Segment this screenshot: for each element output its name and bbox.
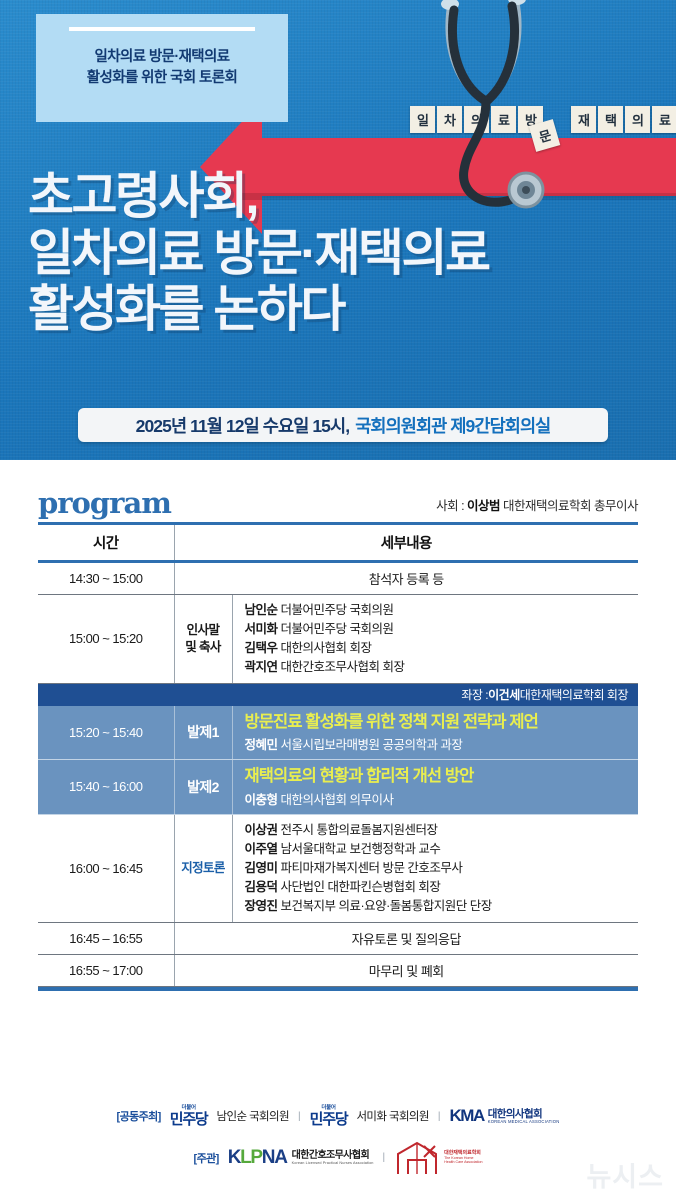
presentation-speaker: 정혜민 서울시립보라매병원 공공의학과 과장: [245, 734, 639, 753]
kma-logo: KMA 대한의사협회 KOREAN MEDICAL ASSOCIATION: [450, 1106, 560, 1126]
speaker-name: 정혜민: [245, 738, 278, 752]
speaker-affiliation: 서울시립보라매병원 공공의학과 과장: [278, 738, 463, 752]
speaker-affiliation: 대한의사협회 의무이사: [278, 793, 394, 807]
event-venue: 국회의원회관 제9간담회의실: [355, 413, 550, 438]
poster-footer: [공동주최] 더불어 민주당 남인순 국회의원 | 더불어 민주당 서미화 국회…: [0, 1090, 676, 1200]
row-detail: 참석자 등록 등: [174, 561, 638, 594]
speaker-name: 이충형: [245, 793, 278, 807]
row-kind-line2: 및 축사: [175, 639, 232, 656]
title-line-2: 일차의료 방문·재택의료: [28, 225, 648, 282]
table-row: 16:55 ~ 17:00 마무리 및 폐회: [38, 954, 638, 986]
person-affiliation: 보건복지부 의료·요양·돌봄통합지원단 단장: [278, 899, 492, 913]
person-entry: 김용덕 사단법인 대한파킨슨병협회 회장: [245, 878, 639, 897]
row-detail: 마무리 및 폐회: [174, 954, 638, 986]
program-table: 시간 세부내용 14:30 ~ 15:00 참석자 등록 등 15:00 ~ 1…: [38, 522, 638, 987]
presentation-speaker: 이충형 대한의사협회 의무이사: [245, 789, 639, 808]
chair-label: 좌장 :: [461, 686, 488, 703]
row-kind: 지정토론: [174, 814, 232, 922]
klpna-name-ko: 대한간호조무사협회: [292, 1150, 374, 1161]
event-date-time: 2025년 11월 12일 수요일 15시,: [136, 413, 350, 438]
person-entry: 김택우 대한의사협회 회장: [245, 639, 639, 658]
minjoo-logo-2: 더불어 민주당: [310, 1106, 348, 1127]
column-header-detail: 세부내용: [174, 523, 638, 561]
program-heading: program: [38, 490, 171, 518]
row-time: 15:40 ~ 16:00: [38, 760, 174, 815]
row-kind: 발제2: [174, 760, 232, 815]
chair-strip-row: 좌장 : 이건세 대한재택의료학회 회장: [38, 683, 638, 706]
organizer-label: [주관]: [194, 1150, 219, 1166]
poster-root: 일 차 의 료 방 재 택 의 료 활 성 화 문: [0, 0, 676, 1200]
person-entry: 곽지연 대한간호조무사협회 회장: [245, 658, 639, 677]
person-affiliation: 파티마재가복지센터 방문 간호조무사: [278, 861, 463, 875]
caption-line-1: 일차의료 방문·재택의료: [94, 47, 229, 68]
table-row-presentation: 15:20 ~ 15:40 발제1 방문진료 활성화를 위한 정책 지원 전략과…: [38, 706, 638, 760]
footer-separator: |: [298, 1111, 301, 1122]
person-entry: 이상권 전주시 통합의료돌봄지원센터장: [245, 821, 639, 840]
event-datetime-banner: 2025년 11월 12일 수요일 15시, 국회의원회관 제9간담회의실: [78, 408, 608, 442]
table-bottom-rule: [38, 987, 638, 991]
person-name: 김택우: [245, 641, 278, 655]
klpna-wordmark: KLPNA: [228, 1147, 287, 1169]
klpna-name-en: Korean Licensed Practical Nurses Associa…: [292, 1161, 374, 1165]
row-time: 15:20 ~ 15:40: [38, 706, 174, 760]
chair-name: 이건세: [488, 686, 520, 703]
khha-name-en-2: Health Care Association: [444, 1160, 482, 1164]
klpna-name: 대한간호조무사협회 Korean Licensed Practical Nurs…: [292, 1150, 374, 1165]
hero-caption-card: 일차의료 방문·재택의료 활성화를 위한 국회 토론회: [36, 14, 288, 122]
klpna-logo: KLPNA 대한간호조무사협회 Korean Licensed Practica…: [228, 1147, 374, 1169]
person-name: 장영진: [245, 899, 278, 913]
minjoo-logo-1: 더불어 민주당: [170, 1106, 208, 1127]
row-detail: 이상권 전주시 통합의료돌봄지원센터장 이주열 남서울대학교 보건행정학과 교수…: [232, 814, 638, 922]
person-entry: 장영진 보건복지부 의료·요양·돌봄통합지원단 단장: [245, 897, 639, 916]
moderator-label: 사회 :: [436, 499, 467, 513]
row-detail: 남인순 더불어민주당 국회의원 서미화 더불어민주당 국회의원 김택우 대한의사…: [232, 594, 638, 683]
person-name: 이주열: [245, 842, 278, 856]
chair-line: 좌장 : 이건세 대한재택의료학회 회장: [38, 684, 638, 706]
table-header-row: 시간 세부내용: [38, 523, 638, 561]
chair-affiliation: 대한재택의료학회 회장: [520, 686, 628, 703]
row-time: 14:30 ~ 15:00: [38, 561, 174, 594]
moderator-name: 이상범: [467, 499, 500, 513]
letter-tile: 의: [625, 106, 650, 133]
kma-name-en: KOREAN MEDICAL ASSOCIATION: [488, 1120, 560, 1124]
kma-name-ko: 대한의사협회: [488, 1109, 560, 1120]
person-name: 남인순: [245, 603, 278, 617]
caption-divider: [69, 27, 255, 31]
person-entry: 남인순 더불어민주당 국회의원: [245, 601, 639, 620]
moderator-affiliation: 대한재택의료학회 총무이사: [500, 499, 638, 513]
row-kind: 인사말 및 축사: [174, 594, 232, 683]
poster-title: 초고령사회, 일차의료 방문·재택의료 활성화를 논하다: [28, 168, 648, 338]
table-row: 14:30 ~ 15:00 참석자 등록 등: [38, 561, 638, 594]
kma-wordmark: KMA: [450, 1106, 484, 1126]
person-affiliation: 더불어민주당 국회의원: [278, 603, 394, 617]
row-time: 16:45 – 16:55: [38, 922, 174, 954]
presentation-title: 재택의료의 현황과 합리적 개선 방안: [245, 766, 639, 787]
program-section: program 사회 : 이상범 대한재택의료학회 총무이사 시간 세부내용 1…: [0, 460, 676, 991]
minjoo-wordmark: 민주당: [170, 1112, 208, 1127]
row-time: 15:00 ~ 15:20: [38, 594, 174, 683]
cohost-member-1: 남인순 국회의원: [217, 1108, 289, 1124]
table-row: 15:00 ~ 15:20 인사말 및 축사 남인순 더불어민주당 국회의원 서…: [38, 594, 638, 683]
person-affiliation: 대한의사협회 회장: [278, 641, 372, 655]
kma-name: 대한의사협회 KOREAN MEDICAL ASSOCIATION: [488, 1109, 560, 1124]
row-detail: 방문진료 활성화를 위한 정책 지원 전략과 제언 정혜민 서울시립보라매병원 …: [232, 706, 638, 760]
person-name: 이상권: [245, 823, 278, 837]
footer-separator: |: [383, 1152, 386, 1163]
minjoo-wordmark: 민주당: [310, 1112, 348, 1127]
person-affiliation: 더불어민주당 국회의원: [278, 622, 394, 636]
title-line-3: 활성화를 논하다: [28, 281, 648, 338]
khha-logo: 대한재택의료학회 The Korean Home Health Care Ass…: [394, 1140, 482, 1176]
person-entry: 김영미 파티마재가복지센터 방문 간호조무사: [245, 859, 639, 878]
cohost-label: [공동주최]: [117, 1108, 161, 1124]
caption-line-2: 활성화를 위한 국회 토론회: [87, 68, 237, 89]
person-name: 서미화: [245, 622, 278, 636]
person-name: 김영미: [245, 861, 278, 875]
person-name: 곽지연: [245, 660, 278, 674]
person-entry: 서미화 더불어민주당 국회의원: [245, 620, 639, 639]
letter-tile: 료: [652, 106, 676, 133]
moderator-line: 사회 : 이상범 대한재택의료학회 총무이사: [436, 495, 638, 518]
newsis-watermark: 뉴시스: [586, 1155, 664, 1194]
khha-name: 대한재택의료학회 The Korean Home Health Care Ass…: [444, 1151, 482, 1165]
person-entry: 이주열 남서울대학교 보건행정학과 교수: [245, 840, 639, 859]
column-header-time: 시간: [38, 523, 174, 561]
presentation-title: 방문진료 활성화를 위한 정책 지원 전략과 제언: [245, 712, 639, 733]
row-time: 16:00 ~ 16:45: [38, 814, 174, 922]
person-affiliation: 사단법인 대한파킨슨병협회 회장: [278, 880, 441, 894]
table-row: 16:45 – 16:55 자유토론 및 질의응답: [38, 922, 638, 954]
table-row-presentation: 15:40 ~ 16:00 발제2 재택의료의 현황과 합리적 개선 방안 이충…: [38, 760, 638, 815]
row-detail: 자유토론 및 질의응답: [174, 922, 638, 954]
row-time: 16:55 ~ 17:00: [38, 954, 174, 986]
cohost-row: [공동주최] 더불어 민주당 남인순 국회의원 | 더불어 민주당 서미화 국회…: [0, 1090, 676, 1127]
person-affiliation: 전주시 통합의료돌봄지원센터장: [278, 823, 438, 837]
organizer-row: [주관] KLPNA 대한간호조무사협회 Korean Licensed Pra…: [0, 1127, 676, 1176]
title-line-1: 초고령사회,: [28, 168, 648, 225]
chair-strip: 좌장 : 이건세 대한재택의료학회 회장: [38, 683, 638, 706]
person-affiliation: 대한간호조무사협회 회장: [278, 660, 405, 674]
row-detail: 재택의료의 현황과 합리적 개선 방안 이충형 대한의사협회 의무이사: [232, 760, 638, 815]
row-kind: 발제1: [174, 706, 232, 760]
hero-banner: 일 차 의 료 방 재 택 의 료 활 성 화 문: [0, 0, 676, 460]
person-name: 김용덕: [245, 880, 278, 894]
table-row: 16:00 ~ 16:45 지정토론 이상권 전주시 통합의료돌봄지원센터장 이…: [38, 814, 638, 922]
program-header: program 사회 : 이상범 대한재택의료학회 총무이사: [38, 460, 638, 522]
cohost-member-2: 서미화 국회의원: [356, 1108, 428, 1124]
row-kind-line1: 인사말: [175, 622, 232, 639]
footer-separator: |: [438, 1111, 441, 1122]
person-affiliation: 남서울대학교 보건행정학과 교수: [278, 842, 441, 856]
house-mark-icon: [394, 1140, 440, 1176]
